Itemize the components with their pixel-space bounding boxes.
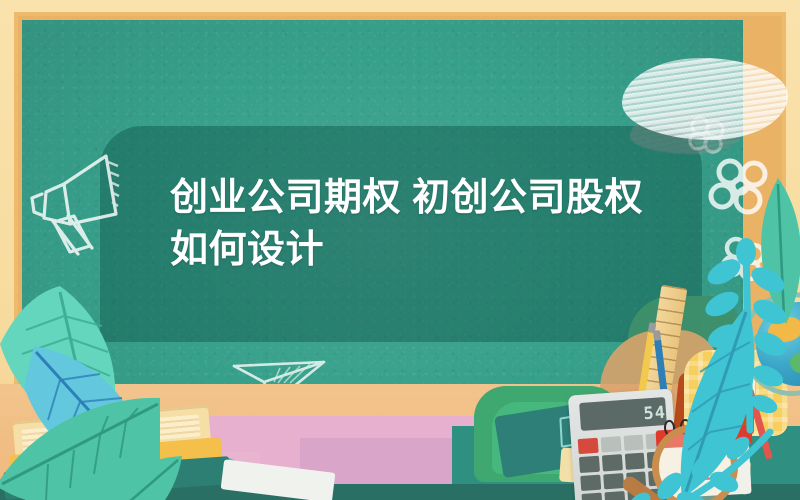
eraser-smudge-core (622, 58, 788, 140)
page-title: 创业公司期权 初创公司股权如何设计 (170, 172, 644, 277)
eraser-smudge-icon (616, 50, 798, 154)
cover-image-canvas: 创业公司期权 初创公司股权如何设计 (0, 0, 800, 500)
